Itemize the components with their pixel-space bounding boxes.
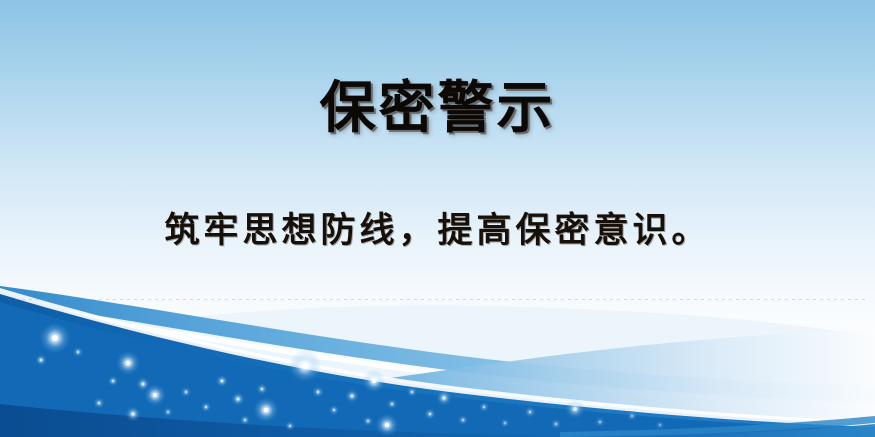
poster-canvas: 保密警示 筑牢思想防线，提高保密意识。	[0, 0, 875, 437]
poster-slogan: 筑牢思想防线，提高保密意识。	[0, 208, 875, 254]
page-title: 保密警示	[0, 78, 875, 140]
text-layer: 保密警示 筑牢思想防线，提高保密意识。	[0, 0, 875, 437]
